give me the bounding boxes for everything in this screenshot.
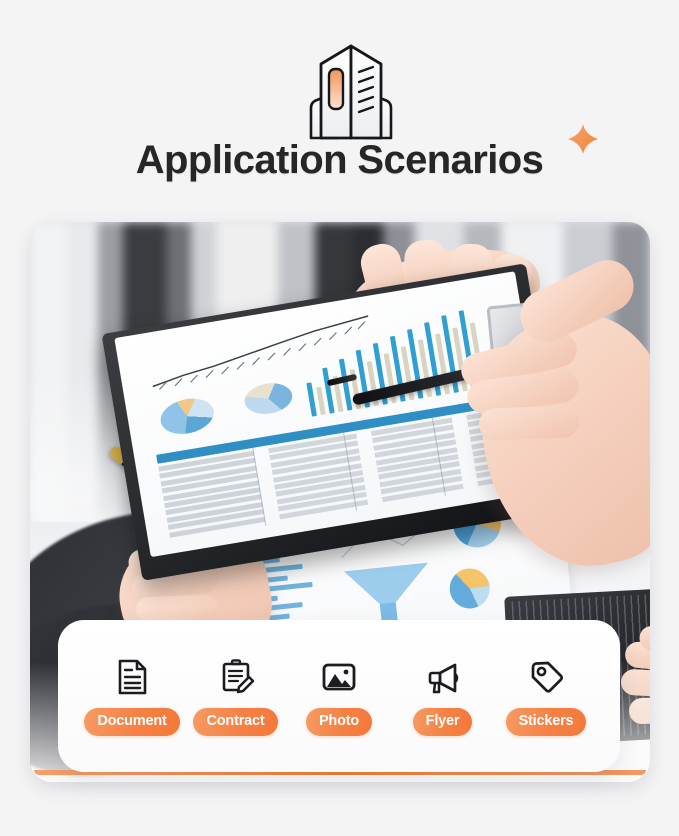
badge-flyer[interactable]: Flyer bbox=[393, 656, 493, 736]
badge-label[interactable]: Document bbox=[84, 708, 179, 736]
price-tag-icon bbox=[525, 656, 567, 698]
badge-label[interactable]: Flyer bbox=[413, 708, 473, 736]
badge-label[interactable]: Stickers bbox=[506, 708, 587, 736]
badge-label[interactable]: Contract bbox=[193, 708, 277, 736]
sparkle-icon bbox=[566, 122, 600, 156]
report-pie-chart-1 bbox=[157, 393, 217, 439]
badge-stickers[interactable]: Stickers bbox=[496, 656, 596, 736]
page-header: Application Scenarios bbox=[0, 0, 679, 208]
badge-contract[interactable]: Contract bbox=[186, 656, 286, 736]
report-pie-chart-2 bbox=[242, 380, 294, 418]
badge-label[interactable]: Photo bbox=[306, 708, 372, 736]
building-icon bbox=[291, 42, 411, 142]
right-hand-with-pen bbox=[445, 257, 650, 587]
badge-document[interactable]: Document bbox=[82, 656, 182, 736]
right-hand-finger bbox=[478, 405, 579, 440]
megaphone-icon bbox=[422, 656, 464, 698]
document-icon bbox=[111, 656, 153, 698]
page-title: Application Scenarios bbox=[136, 140, 544, 180]
badge-photo[interactable]: Photo bbox=[289, 656, 389, 736]
scenario-badge-panel: Document Contract Photo bbox=[58, 620, 620, 772]
clipboard-pen-icon bbox=[215, 656, 257, 698]
image-icon bbox=[318, 656, 360, 698]
